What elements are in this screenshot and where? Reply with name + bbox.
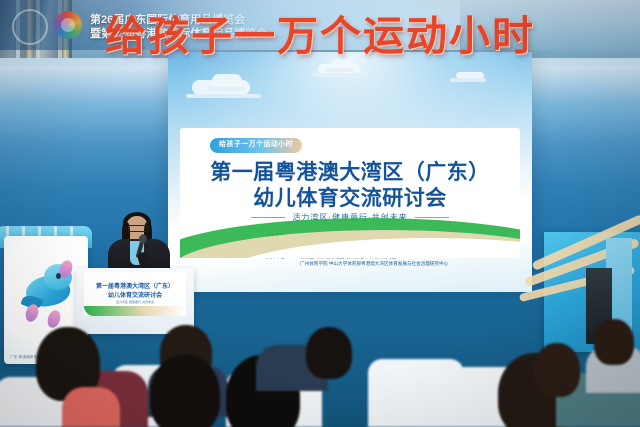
podium-title-line1: 第一届粤港澳大湾区（广东） [84, 281, 186, 290]
cloud-graphic [456, 72, 484, 79]
audience-head [150, 355, 220, 427]
screen-badge: 给孩子一万个运动小时 [210, 138, 302, 153]
podium-title-line2: 幼儿体育交流研讨会 [84, 290, 186, 299]
overlay-headline: 给孩子一万个运动小时 [0, 2, 640, 62]
led-content-panel: 给孩子一万个运动小时 第一届粤港澳大湾区（广东） 幼儿体育交流研讨会 活力湾区·… [180, 128, 520, 258]
audience-head [534, 343, 580, 397]
audience-head [306, 327, 352, 379]
cloud-graphic [212, 74, 242, 88]
podium-subtitle: 活力湾区·健康童行·共创未来 [84, 300, 186, 304]
organizer-value: 广州体育学院 中山大学体育部粤港澳大湾区体育发展与社会治理研究中心 [300, 261, 448, 266]
audience-torso [62, 387, 120, 427]
led-stage-screen: 给孩子一万个运动小时 第一届粤港澳大湾区（广东） 幼儿体育交流研讨会 活力湾区·… [168, 52, 532, 292]
conference-photo: 给孩子一万个运动小时 第一届粤港澳大湾区（广东） 幼儿体育交流研讨会 活力湾区·… [0, 0, 640, 427]
chair [368, 359, 464, 427]
decorative-swoosh [180, 194, 520, 258]
audience-head [594, 319, 634, 365]
organizer-row: 广州体育学院 中山大学体育部粤港澳大湾区体育发展与社会治理研究中心 [266, 260, 448, 267]
audience [0, 309, 640, 427]
glasses-icon [128, 225, 148, 232]
